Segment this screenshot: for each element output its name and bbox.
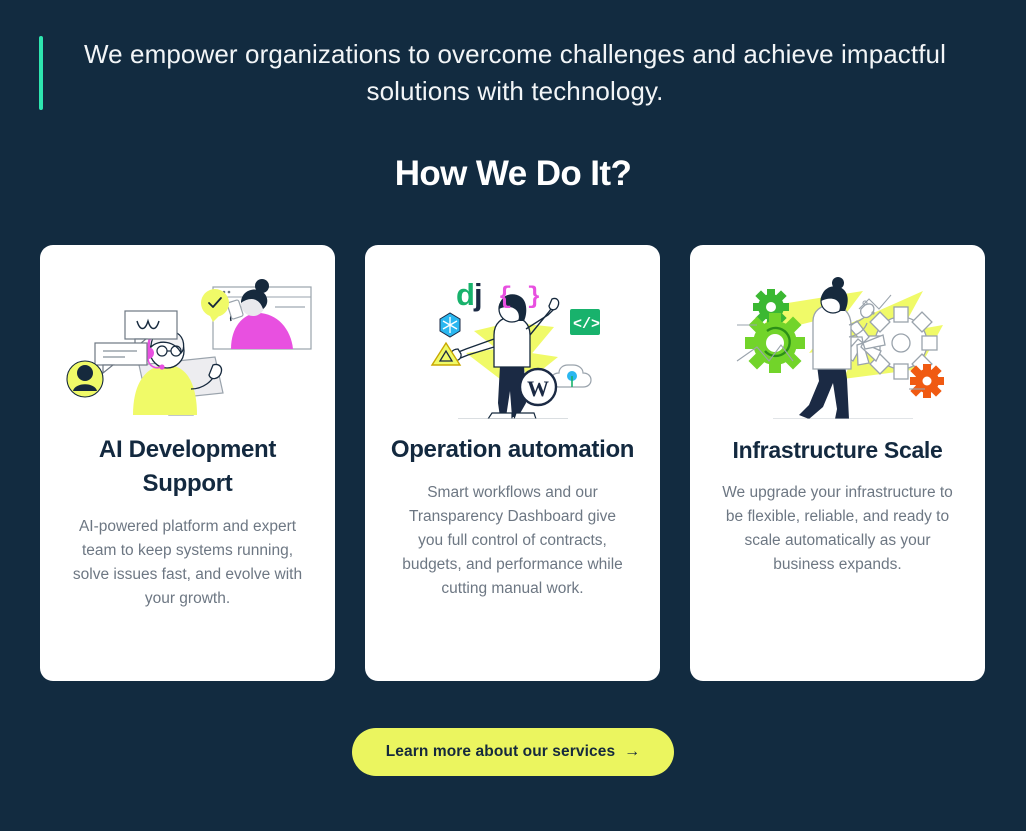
page-title: How We Do It? xyxy=(0,154,1026,194)
svg-text:{ }: { } xyxy=(498,284,541,311)
intro-statement: We empower organizations to overcome cha… xyxy=(39,36,987,110)
svg-text:j: j xyxy=(473,277,483,312)
cta-container: Learn more about our services → xyxy=(0,728,1026,776)
customer-support-illustration xyxy=(63,269,313,419)
card-description: AI-powered platform and expert team to k… xyxy=(72,515,304,611)
intro-statement-text: We empower organizations to overcome cha… xyxy=(43,36,987,110)
card-title: AI Development Support xyxy=(60,433,315,501)
feature-card-operation-automation[interactable]: d j { } </> xyxy=(365,245,660,681)
how-we-do-it-section: We empower organizations to overcome cha… xyxy=(0,0,1026,831)
svg-text:</>: </> xyxy=(573,316,600,333)
learn-more-button-label: Learn more about our services xyxy=(386,743,615,761)
developer-tech-stack-illustration: d j { } </> xyxy=(388,269,638,419)
feature-card-list: AI Development Support AI-powered platfo… xyxy=(40,245,986,681)
learn-more-button[interactable]: Learn more about our services → xyxy=(352,728,675,776)
arrow-right-icon: → xyxy=(624,744,640,760)
card-title: Operation automation xyxy=(391,433,634,467)
feature-card-ai-development-support[interactable]: AI Development Support AI-powered platfo… xyxy=(40,245,335,681)
card-description: We upgrade your infrastructure to be fle… xyxy=(722,481,954,577)
gears-infrastructure-illustration xyxy=(713,269,963,419)
card-title: Infrastructure Scale xyxy=(732,433,942,467)
card-description: Smart workflows and our Transparency Das… xyxy=(397,481,629,601)
svg-text:W: W xyxy=(527,376,549,401)
feature-card-infrastructure-scale[interactable]: Infrastructure Scale We upgrade your inf… xyxy=(690,245,985,681)
svg-text:d: d xyxy=(456,277,475,312)
